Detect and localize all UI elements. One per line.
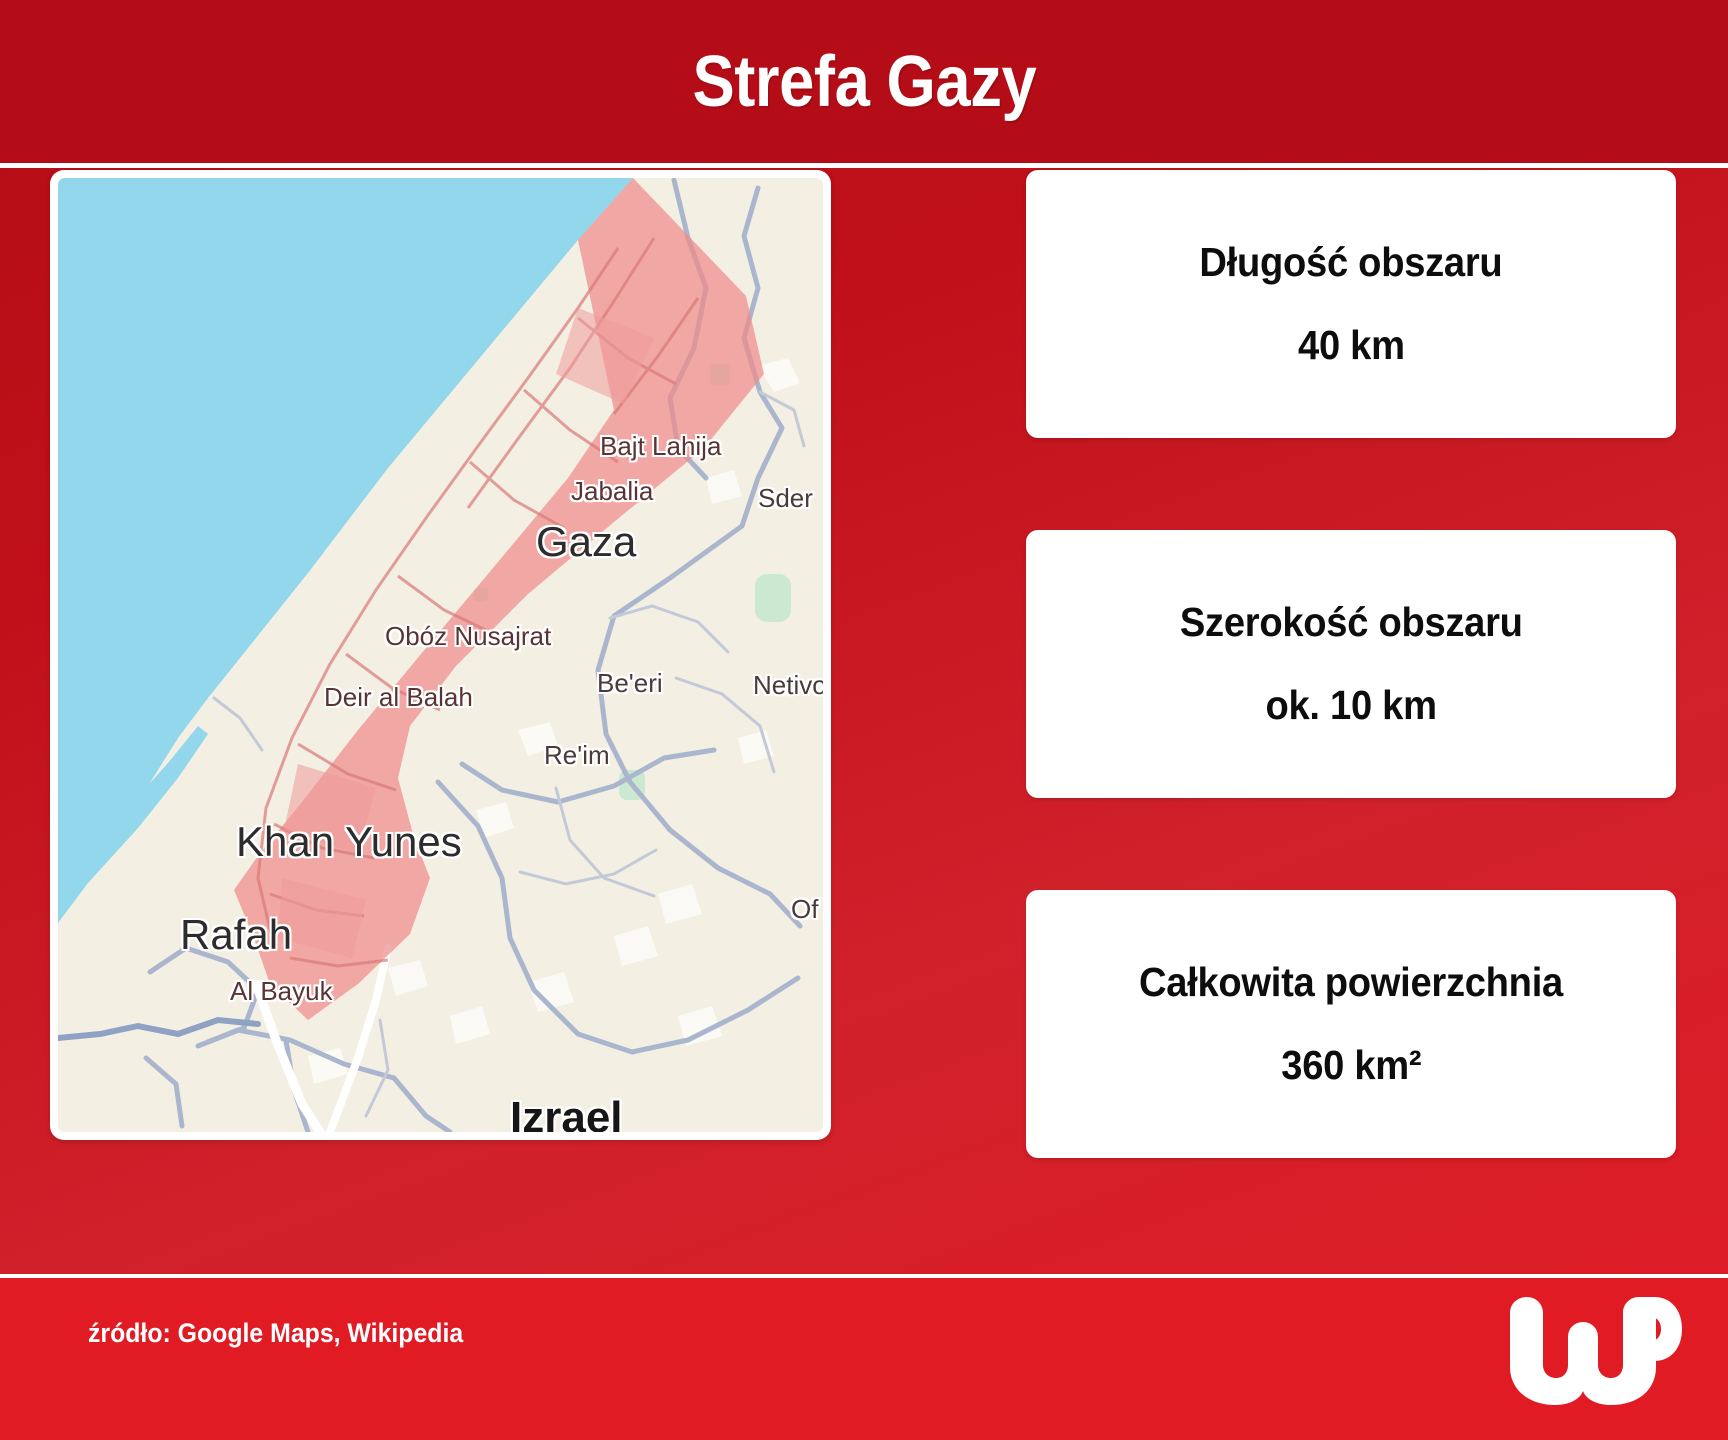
stat-card-label: Długość obszaru	[1199, 239, 1502, 286]
infographic-root: Strefa Gazy	[0, 0, 1728, 1440]
footer-bar	[0, 1278, 1728, 1440]
stat-card-label: Szerokość obszaru	[1180, 599, 1523, 646]
stat-card: Całkowita powierzchnia360 km²	[1026, 890, 1676, 1158]
source-credit: źródło: Google Maps, Wikipedia	[88, 1318, 463, 1349]
page-title: Strefa Gazy	[692, 41, 1036, 123]
stats-column: Długość obszaru40 kmSzerokość obszaruok.…	[1026, 170, 1676, 1280]
map-graphic	[58, 178, 823, 1132]
stat-card-label: Całkowita powierzchnia	[1139, 959, 1563, 1006]
stat-card-value: 360 km²	[1281, 1042, 1421, 1089]
stat-card: Długość obszaru40 km	[1026, 170, 1676, 438]
map-canvas[interactable]: Bajt LahijaJabaliaGazaSderObóz NusajratD…	[58, 178, 823, 1132]
header-divider	[0, 163, 1728, 168]
wp-logo[interactable]	[1496, 1295, 1682, 1407]
stat-card-value: ok. 10 km	[1265, 682, 1436, 729]
stat-card-value: 40 km	[1298, 322, 1405, 369]
header-bar: Strefa Gazy	[0, 0, 1728, 163]
map-panel[interactable]: Bajt LahijaJabaliaGazaSderObóz NusajratD…	[50, 170, 831, 1140]
stat-card: Szerokość obszaruok. 10 km	[1026, 530, 1676, 798]
